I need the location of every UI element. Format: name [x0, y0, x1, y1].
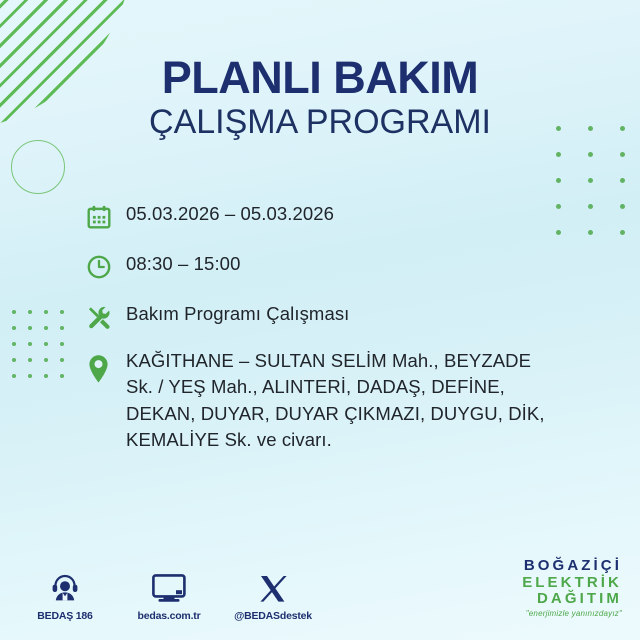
monitor-icon	[130, 570, 208, 604]
brand-line-2: ELEKTRİK	[522, 575, 622, 591]
page-title: PLANLI BAKIM ÇALIŞMA PROGRAMI	[0, 55, 640, 141]
location-text: KAĞITHANE – SULTAN SELİM Mah., BEYZADE S…	[126, 348, 556, 453]
info-row-work-type: Bakım Programı Çalışması	[86, 298, 556, 334]
title-subtitle: ÇALIŞMA PROGRAMI	[0, 105, 640, 141]
poster-canvas: PLANLI BAKIM ÇALIŞMA PROGRAMI 05.03.2026…	[0, 0, 640, 640]
footer: BEDAŞ 186 bedas.com.tr	[0, 548, 640, 628]
date-range-text: 05.03.2026 – 05.03.2026	[126, 198, 334, 227]
dot-grid-left-decoration	[12, 310, 76, 390]
contact-website[interactable]: bedas.com.tr	[130, 570, 208, 622]
brand-line-3: DAĞITIM	[522, 591, 622, 607]
contact-call-center-label: BEDAŞ 186	[26, 610, 104, 622]
brand-logo: BOĞAZİÇİ ELEKTRİK DAĞITIM "enerjimizle y…	[522, 558, 622, 618]
circle-outline-decoration	[11, 140, 65, 194]
headset-support-icon	[26, 570, 104, 604]
time-range-text: 08:30 – 15:00	[126, 248, 240, 277]
info-row-date: 05.03.2026 – 05.03.2026	[86, 198, 556, 234]
tools-icon	[86, 298, 126, 334]
footer-contact-list: BEDAŞ 186 bedas.com.tr	[26, 570, 312, 622]
info-list: 05.03.2026 – 05.03.2026 08:30 – 15:00 Ba…	[86, 198, 556, 453]
dot-grid-right-decoration	[556, 126, 640, 256]
title-main: PLANLI BAKIM	[0, 55, 640, 101]
work-type-text: Bakım Programı Çalışması	[126, 298, 349, 327]
contact-call-center[interactable]: BEDAŞ 186	[26, 570, 104, 622]
contact-website-label: bedas.com.tr	[130, 610, 208, 622]
info-row-time: 08:30 – 15:00	[86, 248, 556, 284]
brand-tagline: "enerjimizle yanınızdayız"	[522, 609, 622, 618]
brand-line-1: BOĞAZİÇİ	[522, 558, 622, 574]
x-twitter-icon	[234, 570, 312, 604]
info-row-location: KAĞITHANE – SULTAN SELİM Mah., BEYZADE S…	[86, 348, 556, 453]
contact-x-twitter[interactable]: @BEDASdestek	[234, 570, 312, 622]
clock-icon	[86, 248, 126, 284]
calendar-icon	[86, 198, 126, 234]
location-pin-icon	[86, 348, 126, 386]
contact-x-twitter-label: @BEDASdestek	[234, 610, 312, 622]
